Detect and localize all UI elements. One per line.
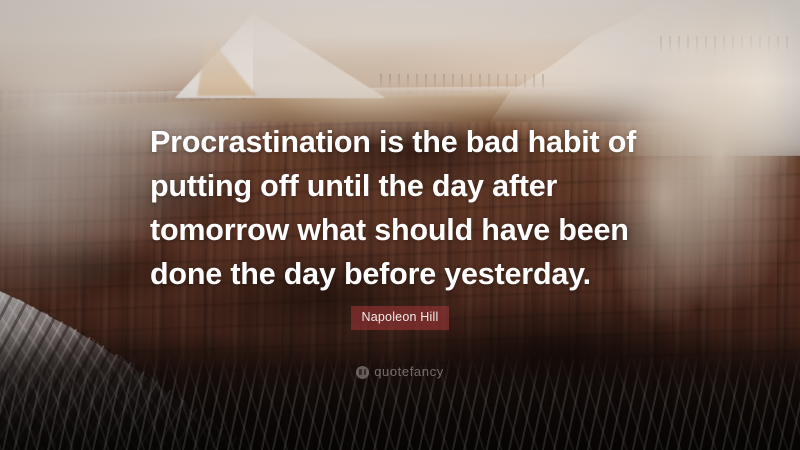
watermark: quotefancy: [0, 365, 800, 379]
quote-author: Napoleon Hill: [351, 306, 450, 330]
quote-card: Procrastination is the bad habit of putt…: [0, 0, 800, 450]
quote-content: Procrastination is the bad habit of putt…: [0, 0, 800, 450]
quotefancy-logo-icon: [356, 366, 369, 379]
quote-line-2: putting off until the day after: [150, 164, 670, 208]
quote-line-3: tomorrow what should have been: [150, 208, 670, 252]
watermark-brand: quotefancy: [374, 365, 444, 379]
attribution-row: Napoleon Hill: [0, 306, 800, 330]
quote-line-1: Procrastination is the bad habit of: [150, 120, 670, 164]
quote-line-4: done the day before yesterday.: [150, 252, 670, 296]
quote-text: Procrastination is the bad habit of putt…: [150, 120, 670, 296]
